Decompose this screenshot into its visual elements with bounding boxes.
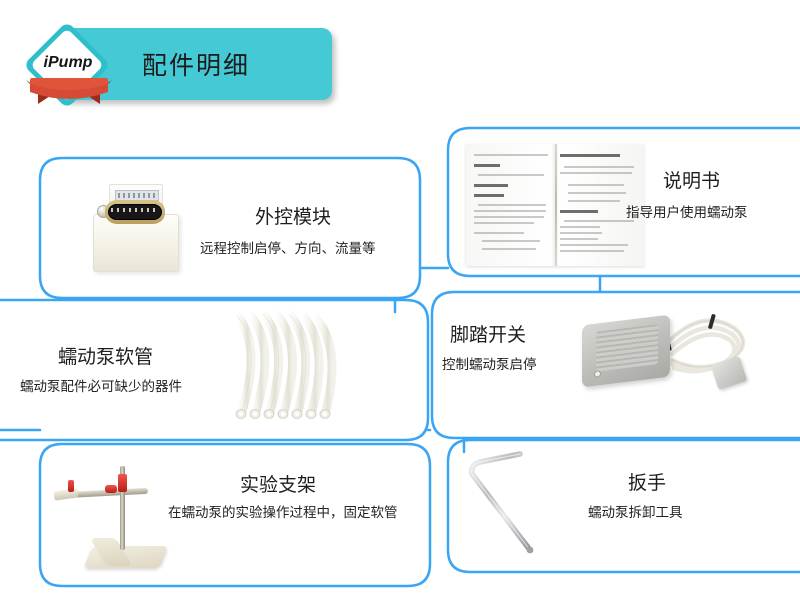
card-title: 蠕动泵软管 bbox=[58, 342, 153, 369]
logo-text: iPump bbox=[32, 54, 104, 72]
card-title: 实验支架 bbox=[240, 470, 316, 497]
card-lab-stand[interactable]: 实验支架 在蠕动泵的实验操作过程中，固定软管 bbox=[40, 444, 430, 586]
logo-ribbon-icon bbox=[24, 74, 114, 108]
card-subtitle: 远程控制启停、方向、流量等 bbox=[200, 238, 460, 260]
card-subtitle: 在蠕动泵的实验操作过程中，固定软管 bbox=[168, 502, 418, 524]
card-title: 外控模块 bbox=[255, 202, 331, 229]
ipump-logo[interactable]: iPump bbox=[22, 26, 118, 122]
card-subtitle: 蠕动泵拆卸工具 bbox=[588, 502, 683, 524]
card-external-control-module[interactable]: 外控模块 远程控制启停、方向、流量等 bbox=[40, 158, 420, 298]
hex-wrench-photo bbox=[458, 444, 588, 562]
header-banner: 配件明细 iPump bbox=[22, 28, 332, 100]
card-title: 扳手 bbox=[628, 468, 666, 495]
card-manual[interactable]: 说明书 指导用户使用蠕动泵 bbox=[448, 128, 800, 276]
card-subtitle: 蠕动泵配件必可缺少的器件 bbox=[20, 376, 182, 398]
card-pump-hose[interactable]: 蠕动泵软管 蠕动泵配件必可缺少的器件 bbox=[8, 300, 428, 440]
card-subtitle: 控制蠕动泵启停 bbox=[442, 354, 537, 376]
card-title: 说明书 bbox=[663, 166, 720, 193]
card-title: 脚踏开关 bbox=[450, 320, 526, 347]
instruction-manual-photo bbox=[466, 144, 644, 266]
card-subtitle: 指导用户使用蠕动泵 bbox=[626, 202, 748, 224]
foot-switch-photo bbox=[572, 302, 762, 412]
card-wrench[interactable]: 扳手 蠕动泵拆卸工具 bbox=[448, 440, 800, 572]
external-control-module-photo bbox=[85, 182, 185, 274]
page-title: 配件明细 bbox=[142, 46, 250, 82]
peristaltic-pump-hose-photo bbox=[223, 306, 353, 424]
card-foot-switch[interactable]: 脚踏开关 控制蠕动泵启停 bbox=[432, 292, 800, 438]
